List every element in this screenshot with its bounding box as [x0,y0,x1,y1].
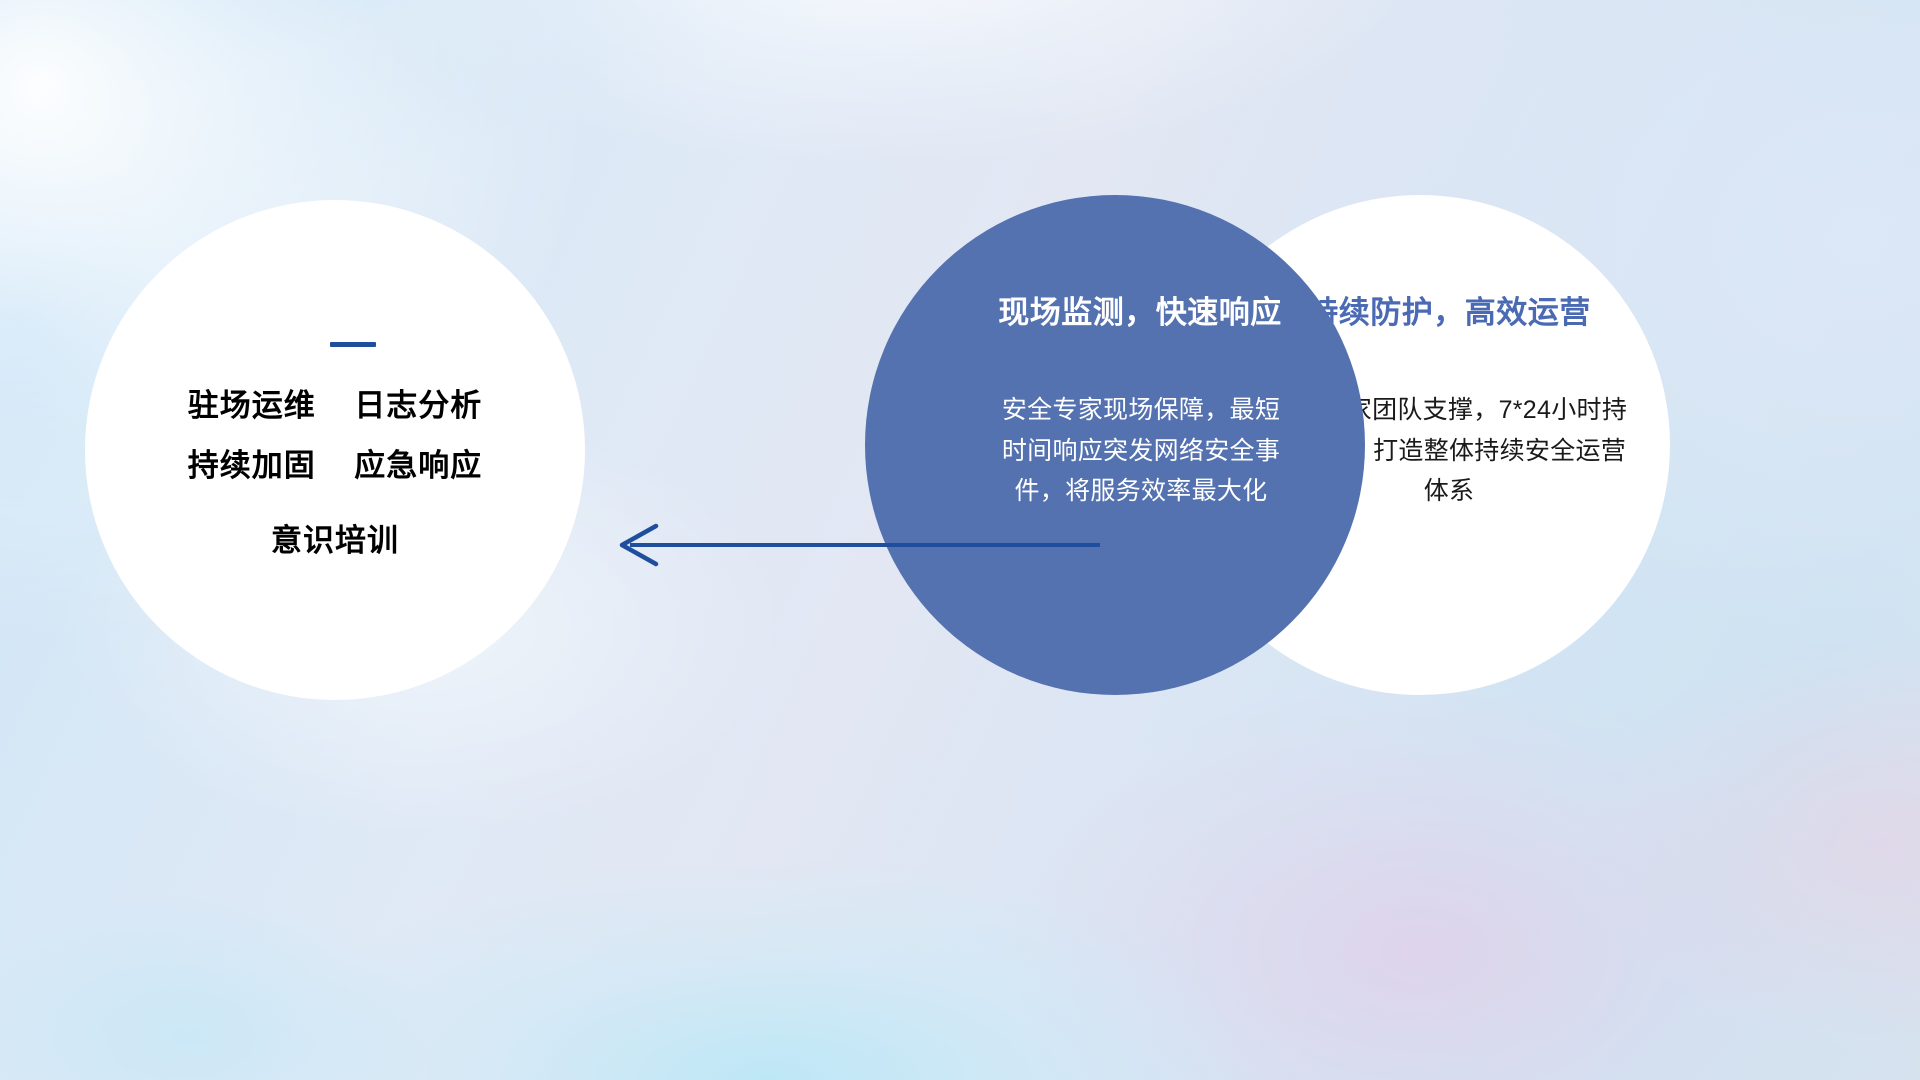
left-capability-line-2: 持续加固 应急响应 [188,449,482,483]
left-capability-line-1: 驻场运维 日志分析 [188,389,482,423]
left-summary-circle[interactable]: 驻场运维 日志分析 持续加固 应急响应 意识培训 [85,200,585,700]
right-circle-title: 持续防护，高效运营 [1307,287,1591,332]
divider-line [330,342,376,347]
middle-service-circle[interactable]: 现场监测，快速响应 安全专家现场保障，最短时间响应突发网络安全事件，将服务效率最… [865,195,1365,695]
middle-circle-body: 安全专家现场保障，最短时间响应突发网络安全事件，将服务效率最大化 [991,390,1291,512]
middle-circle-title: 现场监测，快速响应 [998,287,1282,332]
left-capability-line-3: 意识培训 [271,524,399,558]
slide-canvas: 驻场运维 日志分析 持续加固 应急响应 意识培训 持续防护，高效运营 远程专家团… [0,0,1920,1080]
